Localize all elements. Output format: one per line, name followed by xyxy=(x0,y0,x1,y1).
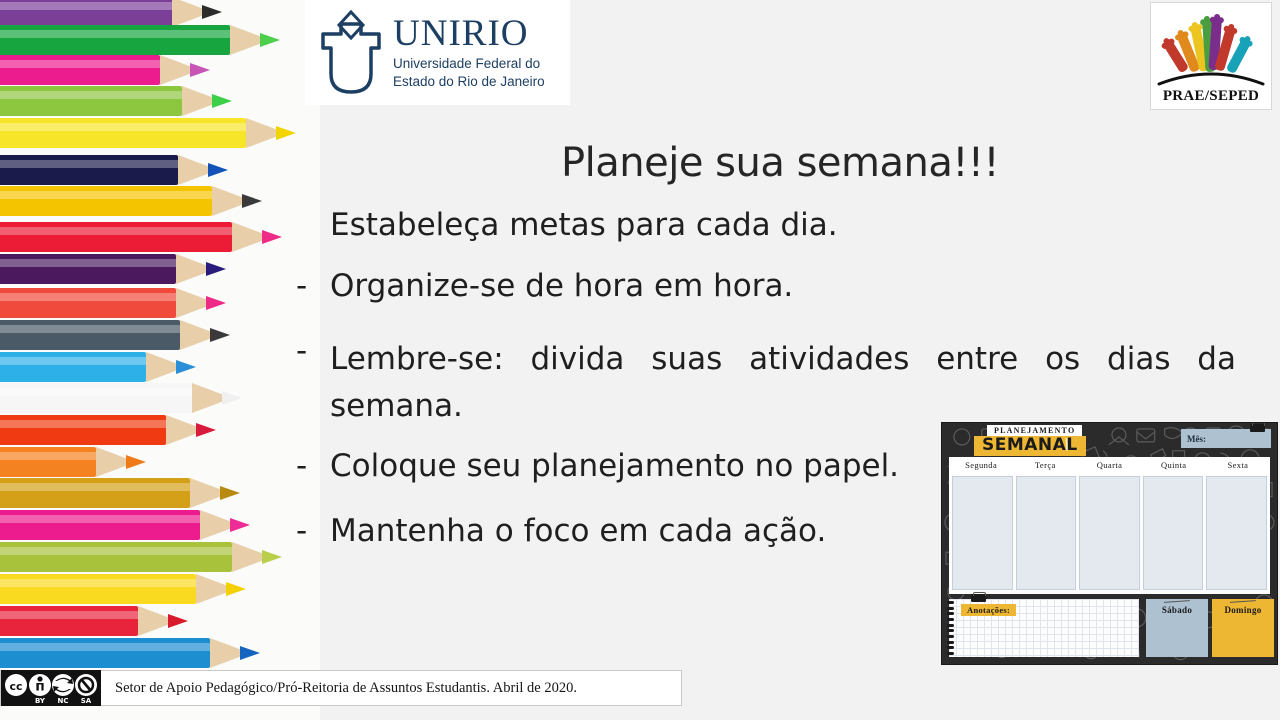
day-column-segunda[interactable] xyxy=(952,476,1013,590)
slide-canvas: UNIRIO Universidade Federal do Estado do… xyxy=(0,0,1280,720)
pencil-tip xyxy=(226,582,246,596)
bullet-dash: - xyxy=(296,336,330,367)
pencil-barrel xyxy=(0,606,138,636)
spiral-binding-icon xyxy=(947,601,954,655)
cc-sa-label: SA xyxy=(81,697,92,705)
weekday-quinta: Quinta xyxy=(1142,457,1206,474)
pencil-18 xyxy=(0,542,282,572)
pencil-tip xyxy=(190,63,210,77)
pencil-tip xyxy=(202,5,222,19)
day-column-terca[interactable] xyxy=(1016,476,1077,590)
bullet-text: Lembre-se: divida suas atividades entre … xyxy=(330,336,1236,429)
pencil-1 xyxy=(0,0,222,27)
bullet-dash: - xyxy=(296,271,330,302)
planner-month-label: Mês: xyxy=(1181,434,1206,444)
pencil-8 xyxy=(0,222,282,252)
binder-clip-icon xyxy=(971,594,986,602)
weekday-segunda: Segunda xyxy=(949,457,1013,474)
pencil-21 xyxy=(0,638,260,668)
day-column-sexta[interactable] xyxy=(1206,476,1267,590)
unirio-subtitle-line-2: Estado do Rio de Janeiro xyxy=(393,73,545,91)
planner-header: PLANEJAMENTO SEMANAL \ Mês: xyxy=(942,423,1277,456)
pencil-13 xyxy=(0,383,242,413)
footer-credit-bar: cc BY NC SA Setor de Apoio Pedagógico/Pr… xyxy=(0,670,682,706)
slide-title: Planeje sua semana!!! xyxy=(330,140,1230,186)
pencil-barrel xyxy=(0,222,232,252)
binder-clip-icon xyxy=(1250,424,1265,432)
pencil-tip xyxy=(196,423,216,437)
pencil-barrel xyxy=(0,574,196,604)
footer-credit-text: Setor de Apoio Pedagógico/Pró-Reitoria d… xyxy=(101,680,577,697)
planner-notes-area[interactable]: Anotações: xyxy=(949,599,1139,657)
unirio-acronym: UNIRIO xyxy=(393,15,545,52)
day-column-quinta[interactable] xyxy=(1143,476,1204,590)
pencil-16 xyxy=(0,478,240,508)
creative-commons-badge: cc BY NC SA xyxy=(1,670,101,706)
pencil-barrel xyxy=(0,55,160,85)
pencil-tip xyxy=(220,486,240,500)
pencil-barrel xyxy=(0,510,200,540)
pencil-barrel xyxy=(0,638,210,668)
pencil-barrel xyxy=(0,155,178,185)
pencil-barrel xyxy=(0,542,232,572)
pencil-15 xyxy=(0,447,146,477)
prae-seped-logo: PRAE/SEPED xyxy=(1150,2,1272,110)
pencil-barrel xyxy=(0,118,246,148)
weekday-terca: Terça xyxy=(1013,457,1077,474)
pencil-barrel xyxy=(0,186,212,216)
bullet-item-2: - Organize-se de hora em hora. xyxy=(296,271,1236,302)
pencil-barrel xyxy=(0,25,230,55)
pencil-6 xyxy=(0,155,228,185)
pencil-tip xyxy=(210,328,230,342)
pencil-tip xyxy=(176,360,196,374)
pencil-tip xyxy=(276,126,296,140)
pencil-10 xyxy=(0,288,226,318)
planner-month-field[interactable]: Mês: xyxy=(1181,429,1271,448)
bullet-item-1: - Estabeleça metas para cada dia. xyxy=(296,210,1236,241)
cc-nc-label: NC xyxy=(58,697,69,705)
cc-by-nc-sa-icon: cc BY NC SA xyxy=(1,670,101,706)
pencil-7 xyxy=(0,186,262,216)
pencil-9 xyxy=(0,254,226,284)
bullet-dash: - xyxy=(296,451,330,482)
pencil-4 xyxy=(0,86,232,116)
planner-sunday-box[interactable]: Domingo xyxy=(1212,599,1274,657)
weekday-sexta: Sexta xyxy=(1206,457,1270,474)
pencil-tip xyxy=(212,94,232,108)
pencil-17 xyxy=(0,510,250,540)
pencil-tip xyxy=(168,614,188,628)
pencil-barrel xyxy=(0,478,190,508)
pencil-barrel xyxy=(0,447,96,477)
pencil-tip xyxy=(262,230,282,244)
pencil-5 xyxy=(0,118,296,148)
unirio-logo: UNIRIO Universidade Federal do Estado do… xyxy=(305,0,570,105)
pencil-tip xyxy=(230,518,250,532)
pencil-barrel xyxy=(0,415,166,445)
pencil-11 xyxy=(0,320,230,350)
pencil-tip xyxy=(260,33,280,47)
pencil-12 xyxy=(0,352,196,382)
pencil-3 xyxy=(0,55,210,85)
planner-saturday-box[interactable]: Sábado xyxy=(1146,599,1208,657)
pencil-barrel xyxy=(0,383,192,413)
pencil-20 xyxy=(0,606,188,636)
pencil-14 xyxy=(0,415,216,445)
pencil-barrel xyxy=(0,254,176,284)
unirio-subtitle-line-1: Universidade Federal do xyxy=(393,55,545,73)
pencil-tip xyxy=(242,194,262,208)
raised-hands-icon xyxy=(1155,12,1267,88)
pencil-barrel xyxy=(0,352,146,382)
pencil-tip xyxy=(206,262,226,276)
pencil-barrel xyxy=(0,86,182,116)
pencil-2 xyxy=(0,25,280,55)
pencil-19 xyxy=(0,574,246,604)
bullet-dash: - xyxy=(296,516,330,547)
bullet-item-3: - Lembre-se: divida suas atividades entr… xyxy=(296,336,1236,429)
pencil-barrel xyxy=(0,0,172,27)
cc-by-label: BY xyxy=(35,697,46,705)
colored-pencils-image xyxy=(0,0,320,720)
svg-text:cc: cc xyxy=(9,680,22,693)
bullet-text: Organize-se de hora em hora. xyxy=(330,271,1236,302)
pencil-barrel xyxy=(0,288,176,318)
pencil-tip xyxy=(206,296,226,310)
planner-day-columns xyxy=(949,474,1270,594)
unirio-emblem-icon xyxy=(315,8,387,98)
pencil-tip xyxy=(126,455,146,469)
prae-seped-label: PRAE/SEPED xyxy=(1163,88,1259,105)
weekday-quarta: Quarta xyxy=(1077,457,1141,474)
planner-week-grid: Segunda Terça Quarta Quinta Sexta xyxy=(949,457,1270,594)
weekly-planner-image: @ PLANEJAMENTO SEMANAL \ xyxy=(941,422,1278,665)
day-column-quarta[interactable] xyxy=(1079,476,1140,590)
bullet-text: Estabeleça metas para cada dia. xyxy=(330,210,1236,241)
pencil-tip xyxy=(240,646,260,660)
pencil-tip xyxy=(262,550,282,564)
pencil-tip xyxy=(208,163,228,177)
pencil-tip xyxy=(222,391,242,405)
planner-notes-label: Anotações: xyxy=(961,604,1016,616)
planner-weekday-header-row: Segunda Terça Quarta Quinta Sexta xyxy=(949,457,1270,474)
pencil-barrel xyxy=(0,320,180,350)
